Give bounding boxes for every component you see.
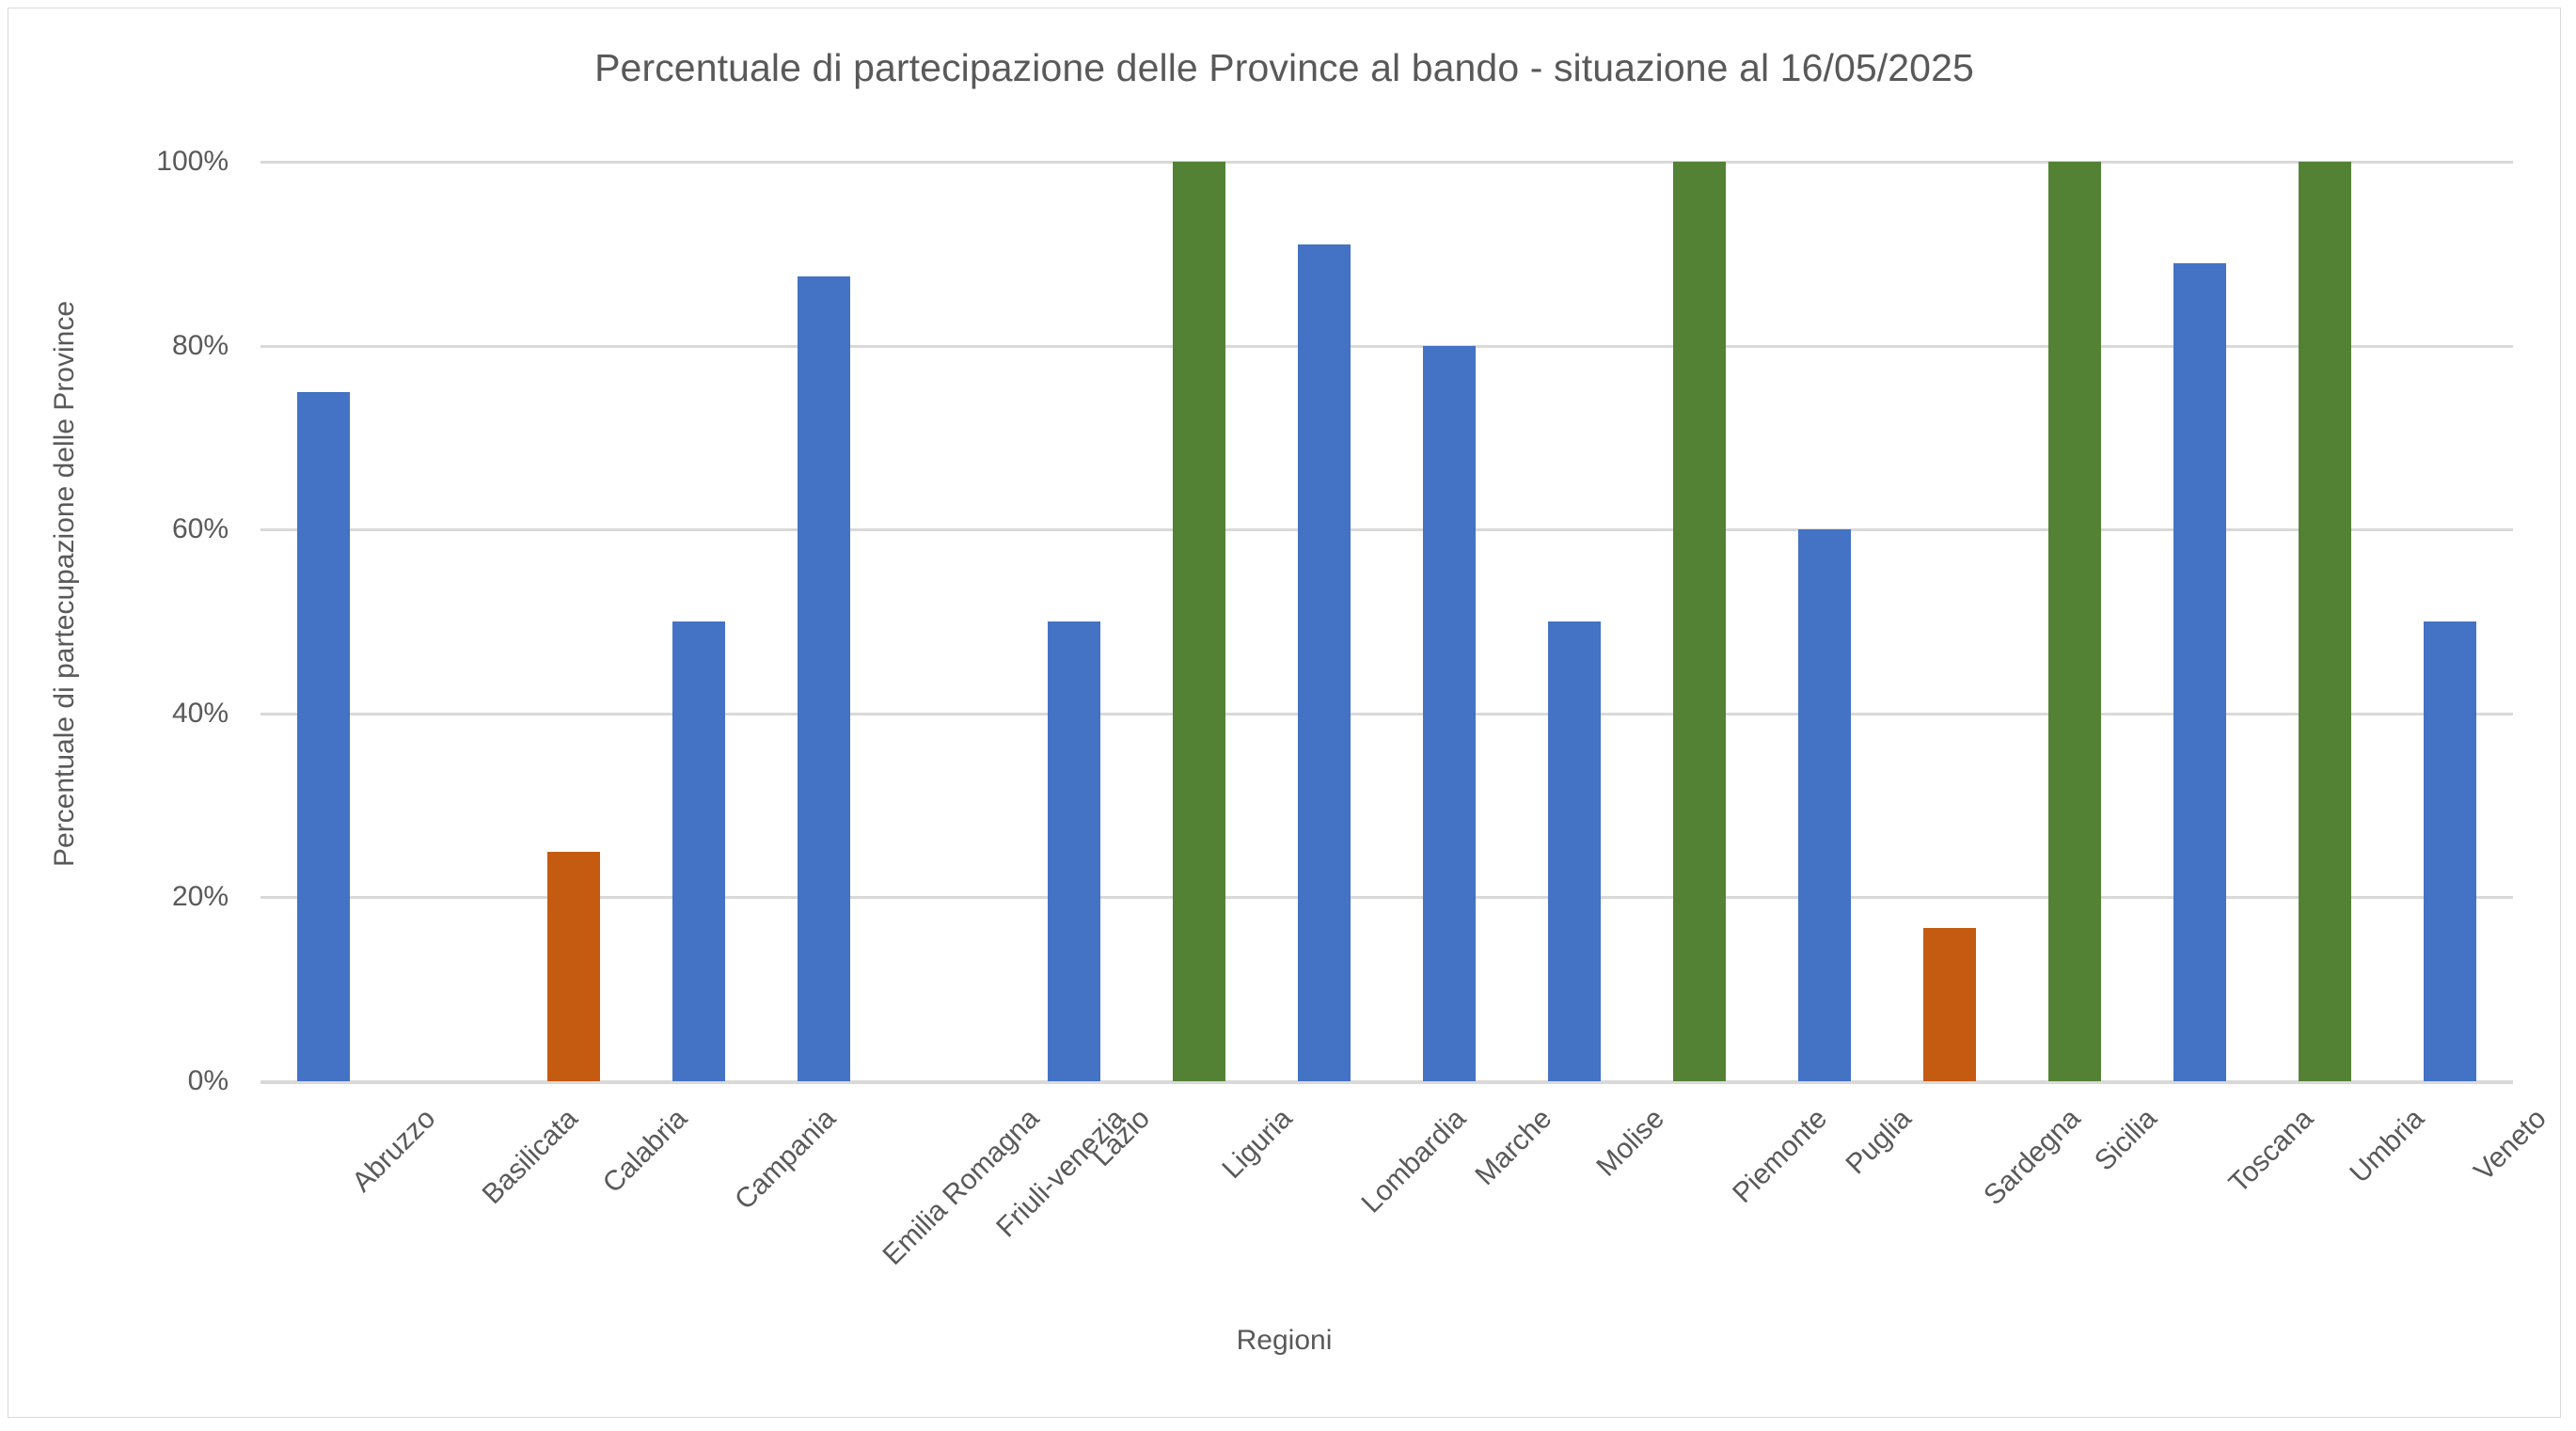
x-label-slot: Liguria — [1136, 1090, 1261, 1315]
bar-slot — [636, 162, 761, 1081]
chart-title: Percentuale di partecipazione delle Prov… — [8, 46, 2560, 90]
y-axis-tick-label: 0% — [188, 1065, 229, 1097]
x-axis-tick-label: Veneto — [2469, 1103, 2553, 1187]
x-label-slot: Abruzzo — [261, 1090, 386, 1315]
bar-slot — [261, 162, 386, 1081]
bar[interactable] — [2299, 162, 2351, 1081]
bar-slot — [386, 162, 511, 1081]
x-label-slot: Puglia — [1762, 1090, 1888, 1315]
x-label-slot: Toscana — [2138, 1090, 2263, 1315]
bar[interactable] — [798, 276, 850, 1081]
x-label-slot: Friuli-venezia — [886, 1090, 1011, 1315]
bar[interactable] — [1548, 621, 1601, 1081]
bar[interactable] — [297, 392, 350, 1082]
x-label-slot: Lazio — [1011, 1090, 1136, 1315]
bar-slot — [2138, 162, 2263, 1081]
x-label-slot: Calabria — [511, 1090, 636, 1315]
bar-slot — [761, 162, 886, 1081]
bar[interactable] — [2173, 263, 2226, 1081]
bar-slot — [1762, 162, 1888, 1081]
y-axis-tick-label: 80% — [172, 330, 229, 362]
y-axis-tick-labels: 0%20%40%60%80%100% — [8, 162, 244, 1081]
x-label-slot: Marche — [1387, 1090, 1512, 1315]
bar-slot — [1136, 162, 1261, 1081]
bar[interactable] — [672, 621, 725, 1081]
y-axis-tick-label: 40% — [172, 698, 229, 730]
bar[interactable] — [1048, 621, 1100, 1081]
x-label-slot: Sardegna — [1888, 1090, 2013, 1315]
bar[interactable] — [547, 852, 600, 1082]
bar[interactable] — [1798, 529, 1851, 1081]
bar[interactable] — [2424, 621, 2476, 1081]
bar[interactable] — [2048, 162, 2101, 1081]
bar-slot — [2263, 162, 2388, 1081]
x-label-slot: Veneto — [2388, 1090, 2513, 1315]
y-axis-tick-label: 20% — [172, 881, 229, 913]
bar[interactable] — [1173, 162, 1225, 1081]
x-axis-tick-labels: AbruzzoBasilicataCalabriaCampaniaEmilia … — [261, 1090, 2513, 1315]
bar-slot — [1387, 162, 1512, 1081]
bar[interactable] — [1923, 928, 1976, 1081]
x-label-slot: Sicilia — [2013, 1090, 2138, 1315]
bar-slot — [2013, 162, 2138, 1081]
chart-frame: Percentuale di partecipazione delle Prov… — [8, 8, 2561, 1418]
bar[interactable] — [1423, 346, 1476, 1081]
x-label-slot: Campania — [636, 1090, 761, 1315]
bar-slot — [1261, 162, 1386, 1081]
x-label-slot: Molise — [1512, 1090, 1637, 1315]
x-label-slot: Emilia Romagna — [761, 1090, 886, 1315]
x-label-slot: Basilicata — [386, 1090, 511, 1315]
x-axis-title: Regioni — [8, 1325, 2560, 1357]
y-axis-tick-label: 60% — [172, 513, 229, 545]
bar-slot — [886, 162, 1011, 1081]
bar-slot — [511, 162, 636, 1081]
y-axis-tick-label: 100% — [156, 146, 229, 178]
x-label-slot: Piemonte — [1637, 1090, 1762, 1315]
bar-slot — [1011, 162, 1136, 1081]
bar[interactable] — [1673, 162, 1726, 1081]
x-label-slot: Lombardia — [1261, 1090, 1386, 1315]
bar-slot — [1637, 162, 1762, 1081]
bar-slot — [2388, 162, 2513, 1081]
x-label-slot: Umbria — [2263, 1090, 2388, 1315]
bar-slot — [1512, 162, 1637, 1081]
plot-area — [261, 162, 2513, 1081]
bar-slot — [1888, 162, 2013, 1081]
bar[interactable] — [1298, 244, 1351, 1081]
